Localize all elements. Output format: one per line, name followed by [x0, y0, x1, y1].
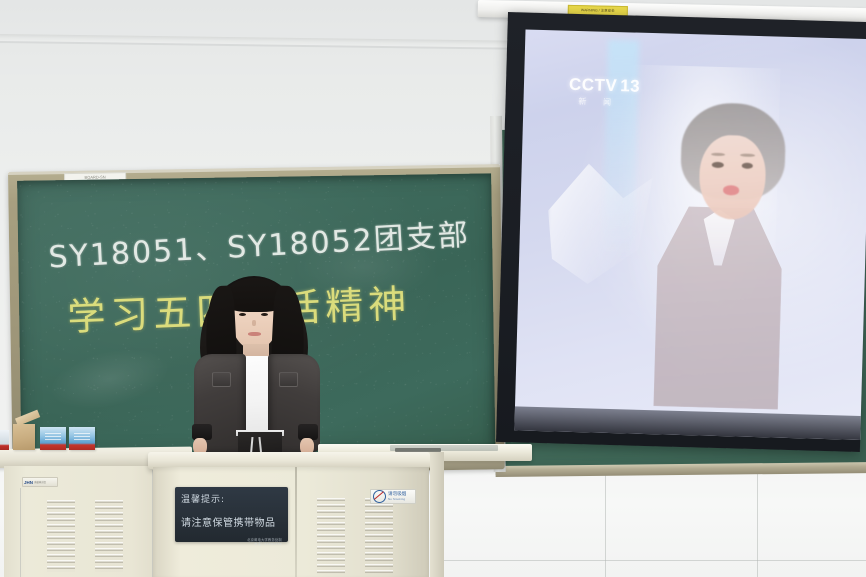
projection-screen-image: CCTV13 新 闻	[514, 29, 866, 440]
notice-fineprint-2: 电话：62281234	[181, 542, 282, 546]
cctv-channel-logo: CCTV13 新 闻	[568, 75, 640, 109]
cctv-channel-number: 13	[620, 76, 640, 96]
news-desk-bar	[514, 406, 861, 440]
desk-item-small-box	[0, 430, 9, 450]
presenter-jacket-pocket	[279, 372, 298, 387]
no-smoking-label-en: No Smoking	[388, 497, 406, 501]
projection-screen[interactable]: CCTV13 新 闻	[496, 12, 866, 452]
cabinet-door-edge	[20, 488, 21, 577]
presenter-eye	[261, 313, 268, 316]
no-smoking-text-group: 请勿吸烟 No Smoking	[388, 492, 406, 501]
brand-subtext: 多媒体讲台	[34, 480, 46, 484]
cabinet-vent	[47, 500, 75, 572]
podium-vent	[317, 498, 345, 574]
cctv-wordmark: CCTV	[569, 75, 618, 95]
equipment-brand-plate: JHN 多媒体讲台	[22, 477, 58, 487]
notice-title: 温馨提示:	[181, 492, 282, 505]
chalk-box	[40, 427, 66, 450]
cabinet-vent	[95, 500, 123, 572]
podium-right-edge	[430, 452, 444, 577]
presenter-eye	[239, 313, 246, 316]
presenter-mouth	[248, 332, 261, 336]
no-smoking-sticker: 请勿吸烟 No Smoking	[370, 489, 416, 504]
cardboard-box	[13, 424, 35, 450]
cctv-channel-subtitle: 新 闻	[578, 96, 639, 109]
news-anchor-mouth	[723, 185, 738, 195]
chalk-box	[69, 427, 95, 450]
presenter-nose	[252, 320, 256, 326]
podium-door-seam	[295, 467, 297, 577]
wall-base-line	[444, 560, 866, 561]
podium-vent	[365, 498, 393, 574]
presenter-jacket-pocket	[212, 372, 231, 387]
news-anchor-eye	[741, 162, 753, 168]
news-anchor-eye	[712, 161, 724, 167]
classroom-photo: BOARD-SN SY18051、SY18052团支部 学习五四讲话精神 WAR…	[0, 0, 866, 577]
no-smoking-icon	[373, 490, 386, 503]
notice-sign: 温馨提示: 请注意保管携带物品 北京邮电大学教务处制 电话：62281234	[175, 487, 288, 542]
presenter-person	[186, 272, 326, 472]
notice-body: 请注意保管携带物品	[181, 514, 282, 529]
brand-name: JHN	[24, 480, 33, 485]
